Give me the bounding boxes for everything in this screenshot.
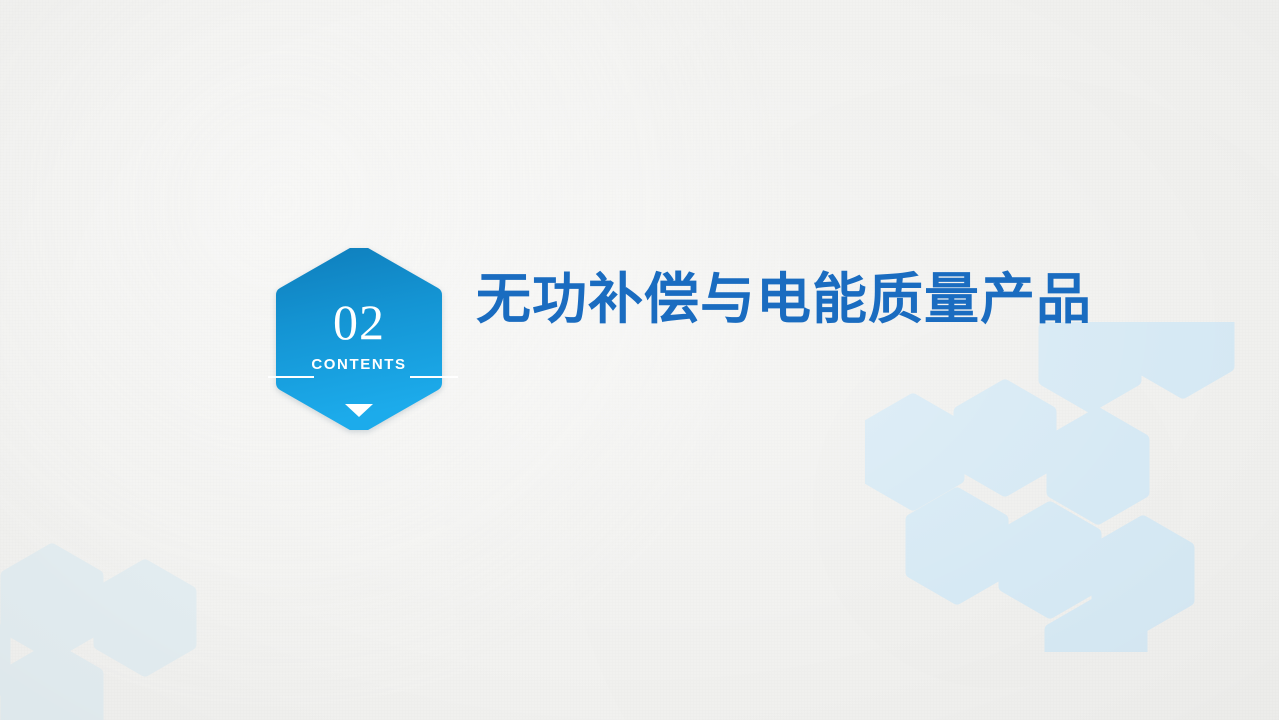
badge-caption: CONTENTS [268, 356, 450, 373]
badge-number: 02 [268, 296, 450, 348]
page-title: 无功补偿与电能质量产品 [476, 268, 1092, 330]
honeycomb-decoration-left [0, 536, 256, 720]
presentation-slide: 02 CONTENTS 无功补偿与电能质量产品 [0, 0, 1279, 720]
triangle-down-icon [345, 404, 373, 417]
section-number-badge: 02 CONTENTS [268, 248, 450, 430]
caption-rule-right [410, 376, 458, 378]
caption-rule-left [268, 376, 314, 378]
section-header-group: 02 CONTENTS 无功补偿与电能质量产品 [262, 236, 1122, 436]
